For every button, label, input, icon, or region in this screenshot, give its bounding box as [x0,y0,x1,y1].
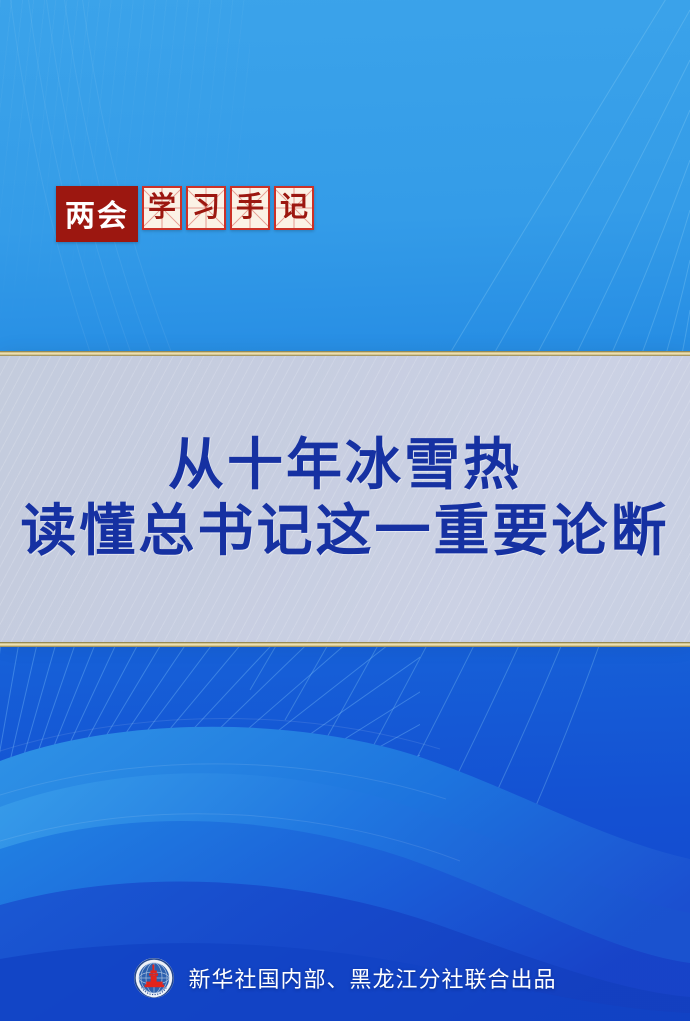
grid-cell-char: 记 [280,194,308,222]
grid-cell-char: 习 [192,194,220,222]
page-title: 从十年冰雪热 读懂总书记这一重要论断 [0,355,690,643]
grid-cell-char: 手 [236,194,264,222]
headline-line-1: 从十年冰雪热 [168,436,522,496]
grid-cell: 习 [186,186,226,230]
badge-grid-cells: 学 习 手 记 [142,186,314,242]
xinhua-logo-icon [133,957,175,999]
footer-credit: 新华社国内部、黑龙江分社联合出品 [0,957,690,999]
headline-line-2: 读懂总书记这一重要论断 [21,502,670,562]
grid-cell-char: 学 [148,194,176,222]
grid-cell: 记 [274,186,314,230]
poster-canvas: 两会 学 习 手 记 从十年冰雪热 读懂总书记这一重要论断 [0,0,690,1021]
badge-tag-lianghui: 两会 [56,186,138,242]
headline-band: 从十年冰雪热 读懂总书记这一重要论断 [0,355,690,643]
grid-cell: 学 [142,186,182,230]
footer-credit-text: 新华社国内部、黑龙江分社联合出品 [188,962,556,994]
topic-badge[interactable]: 两会 学 习 手 记 [56,186,314,242]
background-ray-fan [0,640,420,970]
grid-cell: 手 [230,186,270,230]
